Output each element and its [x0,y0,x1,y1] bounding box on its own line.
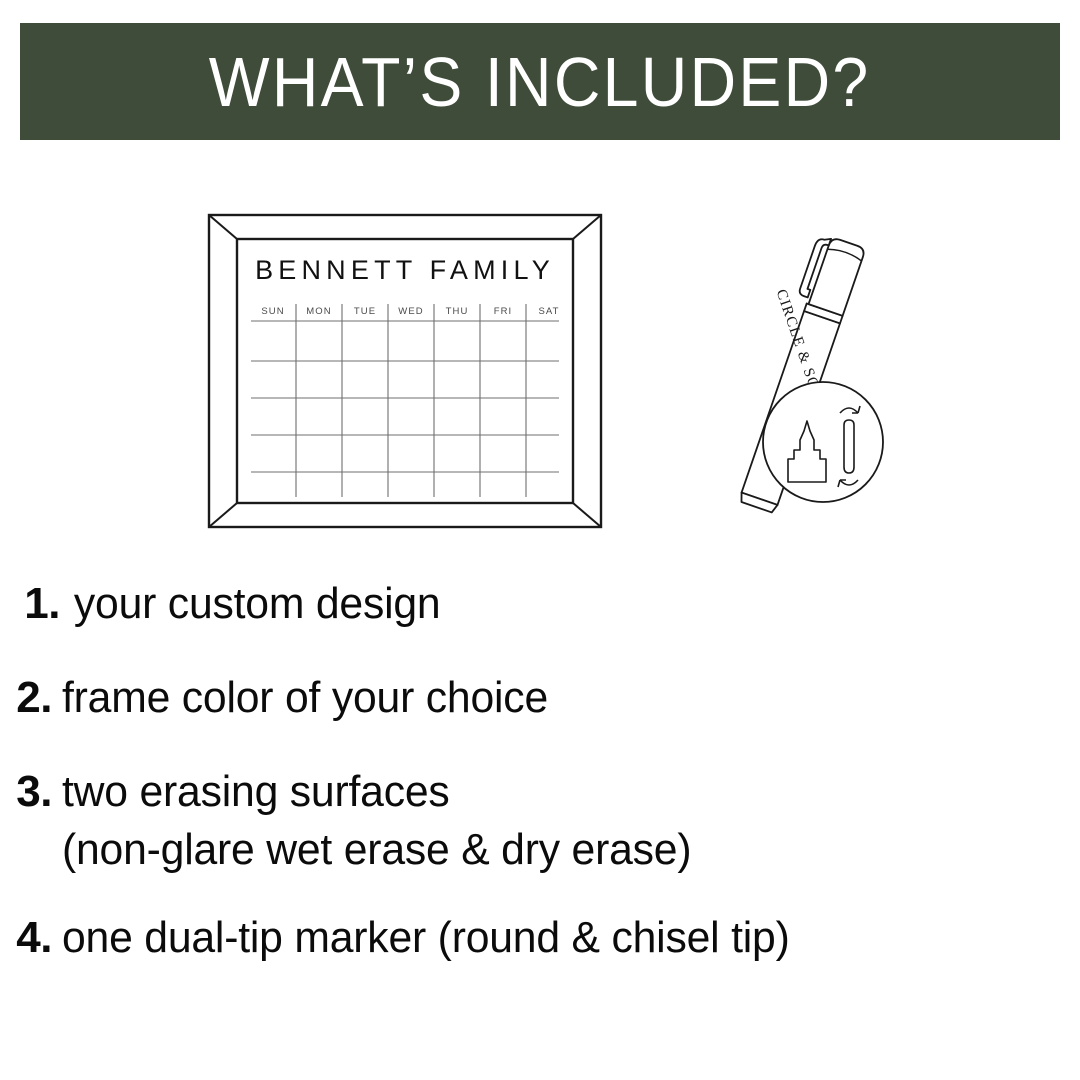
list-item: 3. two erasing surfaces (non-glare wet e… [0,763,1080,879]
list-item-line1: frame color of your choice [62,673,548,722]
day-header-tue: TUE [354,306,376,317]
list-item-number: 4. [0,909,62,967]
list-item-text: your custom design [70,575,1050,633]
page-title: WHAT’S INCLUDED? [209,47,871,117]
list-item-number: 2. [0,669,62,727]
calendar-board-illustration: BENNETT FAMILY SUN MON TUE WED THU FRI S… [205,211,605,531]
list-item-line1: your custom design [74,579,441,628]
day-header-mon: MON [306,306,331,317]
list-item-line1: one dual-tip marker (round & chisel tip) [62,913,790,962]
marker-illustration: CIRCLE & SQUARE [700,217,900,527]
list-item-text: one dual-tip marker (round & chisel tip) [62,909,1049,967]
list-item-number: 1. [0,575,70,633]
included-items-list: 1. your custom design 2. frame color of … [0,575,1080,967]
list-item-text: frame color of your choice [62,669,1049,727]
header-banner: WHAT’S INCLUDED? [20,23,1060,140]
list-item-line1: two erasing surfaces [62,767,450,816]
list-item-number: 3. [0,763,62,821]
infographic-page: WHAT’S INCLUDED? BENNETT FAMILY SUN MON [0,0,1080,1080]
list-item: 4. one dual-tip marker (round & chisel t… [0,909,1080,967]
list-item-text: two erasing surfaces (non-glare wet eras… [62,763,1049,879]
list-item: 2. frame color of your choice [0,669,1080,727]
board-title-text: BENNETT FAMILY [255,255,555,285]
list-item-line2: (non-glare wet erase & dry erase) [62,821,1049,879]
day-header-sun: SUN [261,306,284,317]
day-header-wed: WED [398,306,423,317]
day-header-fri: FRI [494,306,513,317]
list-item: 1. your custom design [0,575,1080,633]
day-header-thu: THU [446,306,469,317]
illustration-row: BENNETT FAMILY SUN MON TUE WED THU FRI S… [0,195,1080,555]
day-header-sat: SAT [538,306,559,317]
